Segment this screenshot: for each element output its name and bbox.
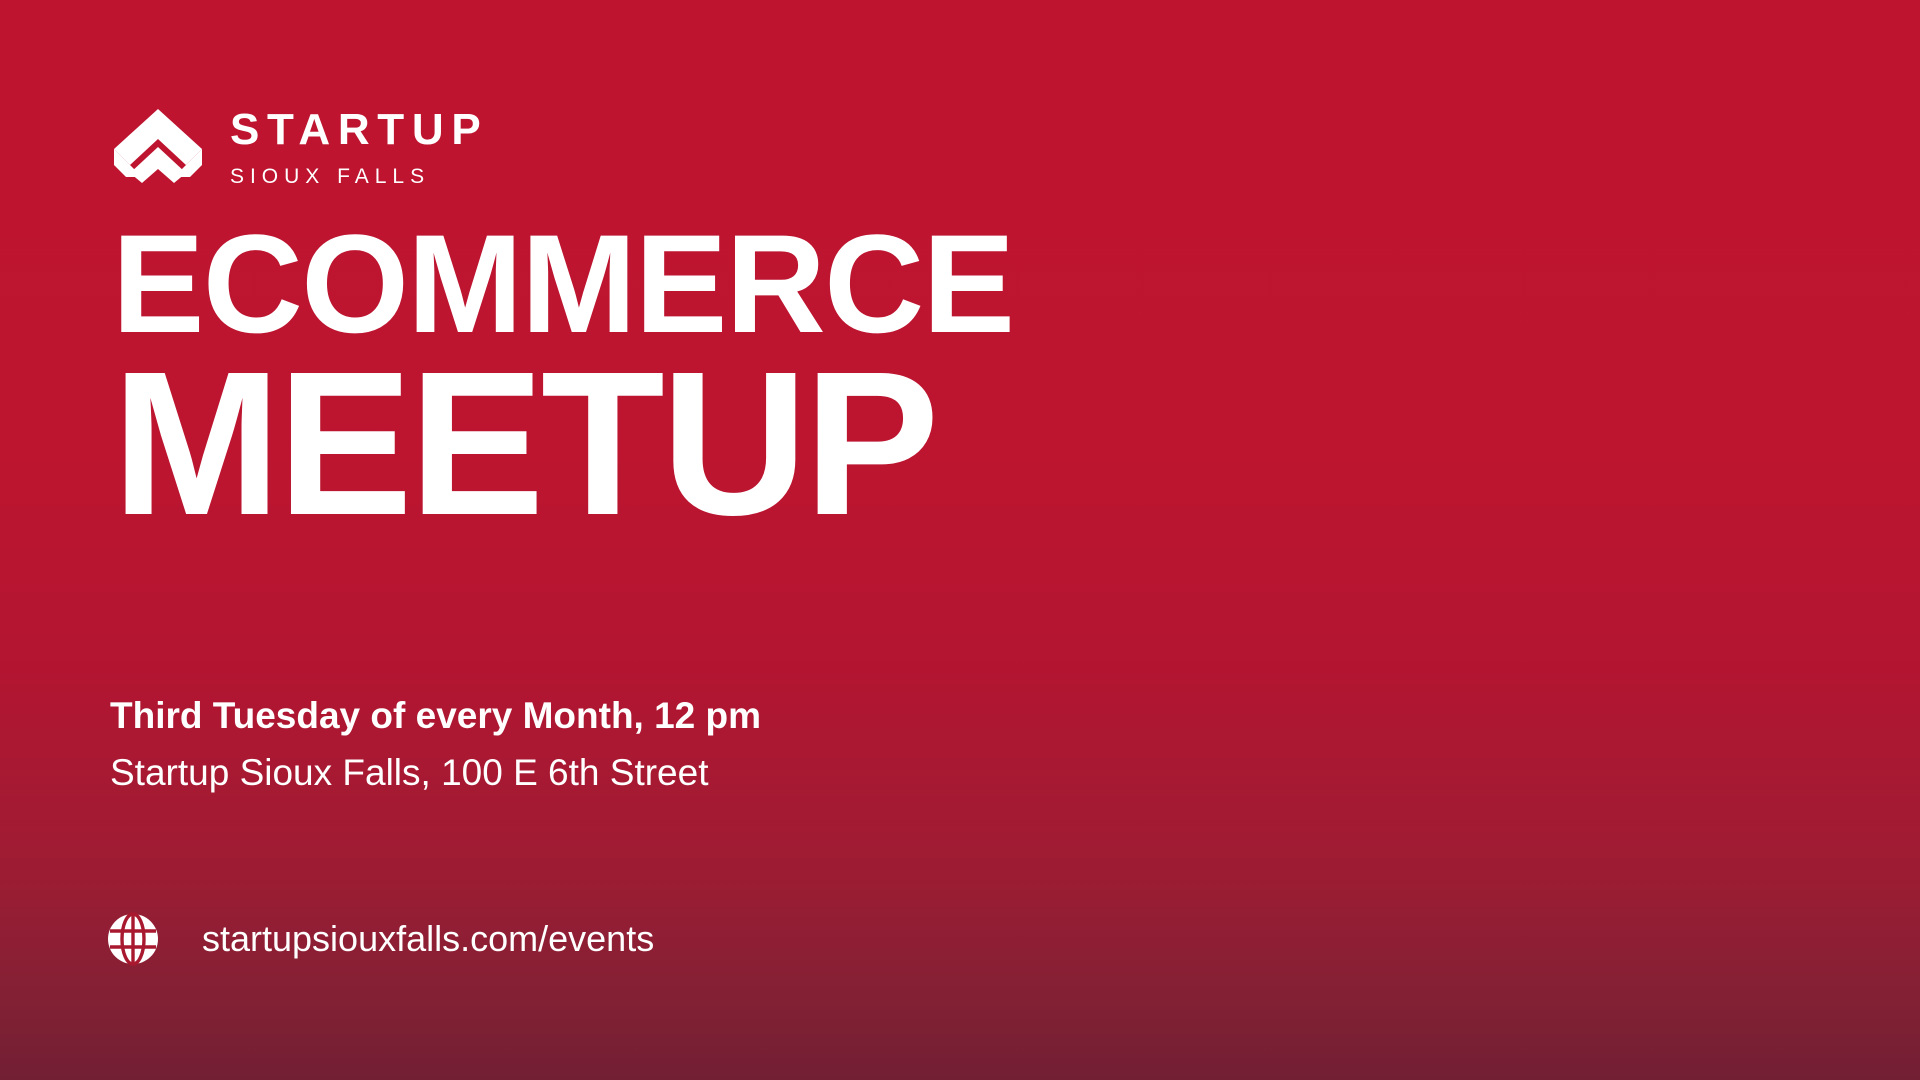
event-poster: STARTUP SIOUX FALLS ECOMMERCE MEETUP Thi… bbox=[0, 0, 1920, 1080]
website-url[interactable]: startupsiouxfalls.com/events bbox=[202, 921, 654, 957]
brand-subtitle: SIOUX FALLS bbox=[230, 166, 488, 187]
headline-line-2: MEETUP bbox=[112, 346, 1300, 543]
event-schedule: Third Tuesday of every Month, 12 pm bbox=[110, 692, 761, 739]
event-details: Third Tuesday of every Month, 12 pm Star… bbox=[110, 692, 761, 797]
chevron-logo-icon bbox=[112, 107, 204, 185]
brand-lockup: STARTUP SIOUX FALLS bbox=[112, 104, 488, 187]
page-title: ECOMMERCE MEETUP bbox=[112, 215, 1312, 543]
globe-icon bbox=[106, 912, 160, 966]
brand-wordmark: STARTUP SIOUX FALLS bbox=[230, 104, 488, 187]
website-row[interactable]: startupsiouxfalls.com/events bbox=[106, 912, 654, 966]
brand-name: STARTUP bbox=[230, 108, 488, 152]
event-location: Startup Sioux Falls, 100 E 6th Street bbox=[110, 749, 761, 796]
